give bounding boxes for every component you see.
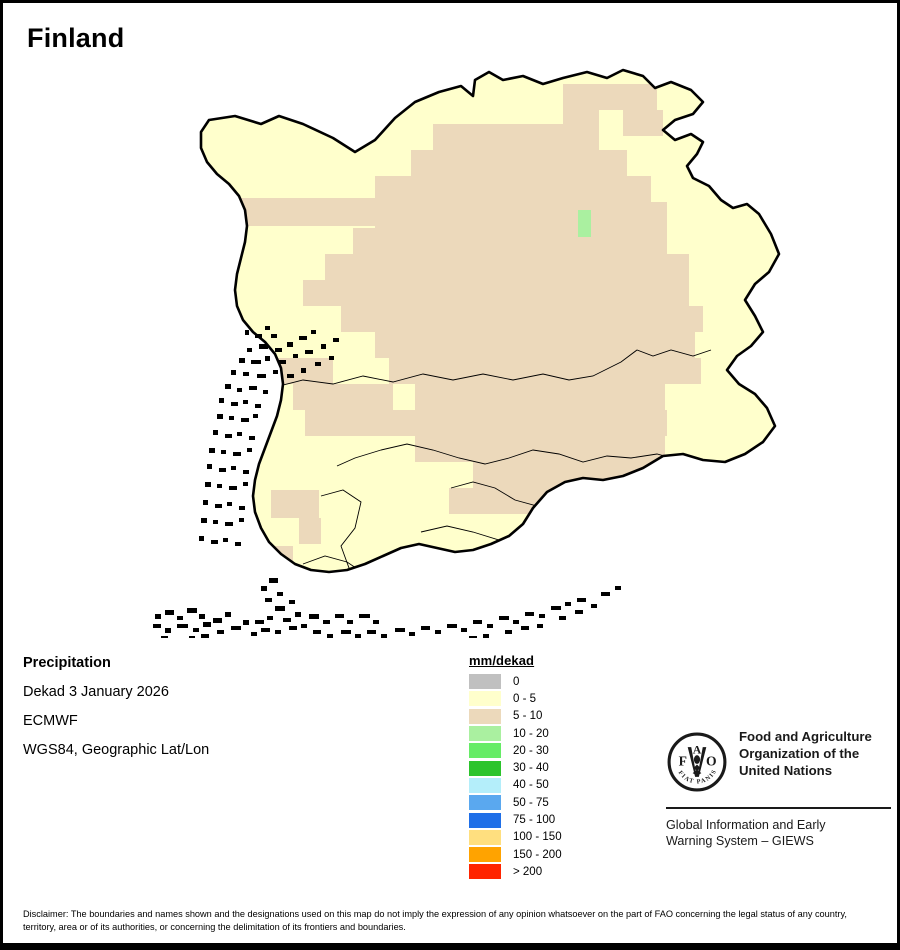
legend-label: 20 - 30: [513, 745, 549, 757]
giews-system-name: Global Information and Early Warning Sys…: [666, 817, 891, 849]
legend-label: 10 - 20: [513, 728, 549, 740]
legend-label: 75 - 100: [513, 814, 555, 826]
info-projection: WGS84, Geographic Lat/Lon: [23, 743, 323, 759]
legend-item: 0: [469, 673, 609, 690]
page-title: Finland: [27, 23, 124, 54]
map-legend: mm/dekad 00 - 55 - 1010 - 2020 - 3030 - …: [469, 653, 609, 881]
legend-swatch: [469, 830, 501, 845]
bottom-divider: [3, 943, 897, 947]
legend-label: 30 - 40: [513, 762, 549, 774]
svg-text:F: F: [679, 754, 687, 769]
legend-label: 100 - 150: [513, 831, 562, 843]
fao-name-line-3: United Nations: [739, 763, 872, 780]
legend-swatch: [469, 726, 501, 741]
fao-name-line-2: Organization of the: [739, 746, 872, 763]
finland-precipitation-map[interactable]: [3, 58, 897, 638]
disclaimer-text: Disclaimer: The boundaries and names sho…: [23, 908, 881, 935]
legend-swatch: [469, 691, 501, 706]
legend-item: 50 - 75: [469, 794, 609, 811]
legend-item: 100 - 150: [469, 829, 609, 846]
fao-divider: [666, 807, 891, 809]
legend-swatch: [469, 795, 501, 810]
legend-swatch: [469, 778, 501, 793]
legend-label: 150 - 200: [513, 849, 562, 861]
legend-label: 0: [513, 676, 519, 688]
legend-item: 30 - 40: [469, 759, 609, 776]
legend-swatch: [469, 864, 501, 879]
legend-item: 150 - 200: [469, 846, 609, 863]
legend-item: 40 - 50: [469, 777, 609, 794]
legend-label: 5 - 10: [513, 710, 542, 722]
legend-swatch: [469, 674, 501, 689]
legend-item: 10 - 20: [469, 725, 609, 742]
info-variable: Precipitation: [23, 656, 323, 672]
raster-class-10-20: [578, 210, 591, 237]
svg-text:O: O: [706, 754, 717, 769]
fao-logo-icon: F A O FIAT PANIS: [666, 731, 728, 798]
legend-item: > 200: [469, 863, 609, 880]
info-period: Dekad 3 January 2026: [23, 685, 323, 701]
legend-title: mm/dekad: [469, 653, 609, 668]
map-canvas[interactable]: [3, 58, 897, 638]
fao-organization-name: Food and Agriculture Organization of the…: [739, 729, 872, 780]
giews-line-2: Warning System – GIEWS: [666, 833, 891, 849]
legend-item: 0 - 5: [469, 690, 609, 707]
fao-name-line-1: Food and Agriculture: [739, 729, 872, 746]
legend-swatch: [469, 743, 501, 758]
map-page: Finland: [0, 0, 900, 950]
info-source: ECMWF: [23, 714, 323, 730]
legend-swatch: [469, 761, 501, 776]
legend-item: 5 - 10: [469, 708, 609, 725]
legend-rows: 00 - 55 - 1010 - 2020 - 3030 - 4040 - 50…: [469, 673, 609, 881]
map-info-block: Precipitation Dekad 3 January 2026 ECMWF…: [23, 656, 323, 772]
legend-swatch: [469, 709, 501, 724]
legend-swatch: [469, 847, 501, 862]
legend-swatch: [469, 813, 501, 828]
legend-item: 75 - 100: [469, 811, 609, 828]
legend-item: 20 - 30: [469, 742, 609, 759]
giews-line-1: Global Information and Early: [666, 817, 891, 833]
legend-label: > 200: [513, 866, 542, 878]
legend-label: 40 - 50: [513, 779, 549, 791]
svg-text:A: A: [693, 743, 702, 756]
fao-branding: F A O FIAT PANIS Food and Agriculture Or…: [666, 729, 891, 849]
legend-label: 50 - 75: [513, 797, 549, 809]
legend-label: 0 - 5: [513, 693, 536, 705]
